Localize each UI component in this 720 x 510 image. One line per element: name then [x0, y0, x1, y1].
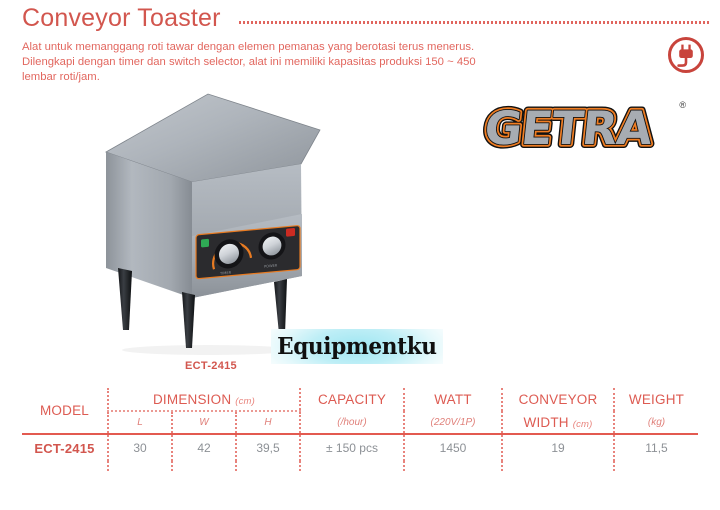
tail-height: [236, 461, 300, 471]
header-dimension: DIMENSION (cm): [108, 388, 300, 411]
subheader-weight-unit: (kg): [614, 411, 698, 434]
svg-text:GETRA: GETRA: [482, 101, 655, 155]
subheader-conveyor-width: WIDTH (cm): [502, 411, 614, 434]
header-capacity: CAPACITY: [300, 388, 404, 411]
product-image-conveyor-toaster: TIMER POWER: [96, 86, 326, 361]
header-watt: WATT: [404, 388, 502, 411]
specification-table: MODEL DIMENSION (cm) CAPACITY WATT CONVE…: [22, 388, 698, 471]
tail-model: [22, 461, 108, 471]
table-group-header-row: MODEL DIMENSION (cm) CAPACITY WATT CONVE…: [22, 388, 698, 411]
cell-capacity: ± 150 pcs: [300, 434, 404, 461]
description-line-3: lembar roti/jam.: [22, 70, 552, 85]
table-row: ECT-2415 30 42 39,5 ± 150 pcs 1450 19 11…: [22, 434, 698, 461]
cell-height: 39,5: [236, 434, 300, 461]
tail-weight: [614, 461, 698, 471]
cell-weight: 11,5: [614, 434, 698, 461]
getra-logo: GETRA GETRA GETRA GETRA ®: [472, 98, 688, 160]
table-dotted-tail: [22, 461, 698, 471]
subheader-capacity-unit: (/hour): [300, 411, 404, 434]
tail-conveyor: [502, 461, 614, 471]
subheader-length: L: [108, 411, 172, 434]
tail-capacity: [300, 461, 404, 471]
product-description: Alat untuk memanggang roti tawar dengan …: [22, 40, 552, 86]
page-title: Conveyor Toaster: [22, 4, 221, 33]
cell-width: 42: [172, 434, 236, 461]
subheader-conveyor-width-unit: (cm): [573, 419, 593, 430]
description-line-2: Dilengkapi dengan timer dan switch selec…: [22, 55, 552, 70]
header-dimension-label: DIMENSION: [153, 392, 231, 407]
cell-watt: 1450: [404, 434, 502, 461]
watermark-equipmentku: Equipmentku: [271, 329, 443, 364]
cell-model: ECT-2415: [22, 434, 108, 461]
registered-trademark-symbol: ®: [679, 100, 686, 110]
cell-length: 30: [108, 434, 172, 461]
header-model: MODEL: [22, 388, 108, 434]
header-weight: WEIGHT: [614, 388, 698, 411]
header-dimension-unit: (cm): [235, 396, 255, 407]
cell-conveyor-width: 19: [502, 434, 614, 461]
description-line-1: Alat untuk memanggang roti tawar dengan …: [22, 40, 552, 55]
subheader-width: W: [172, 411, 236, 434]
subheader-watt-unit: (220V/1P): [404, 411, 502, 434]
page-header: Conveyor Toaster: [22, 2, 720, 34]
header-conveyor: CONVEYOR: [502, 388, 614, 411]
header-dotted-rule: [239, 21, 710, 24]
tail-watt: [404, 461, 502, 471]
subheader-conveyor-width-label: WIDTH: [524, 415, 569, 430]
tail-width: [172, 461, 236, 471]
tail-length: [108, 461, 172, 471]
table-subheader-row: L W H (/hour) (220V/1P) WIDTH (cm) (kg): [22, 411, 698, 434]
watermark-text: Equipmentku: [277, 333, 437, 360]
electric-plug-icon: [665, 34, 707, 76]
subheader-height: H: [236, 411, 300, 434]
